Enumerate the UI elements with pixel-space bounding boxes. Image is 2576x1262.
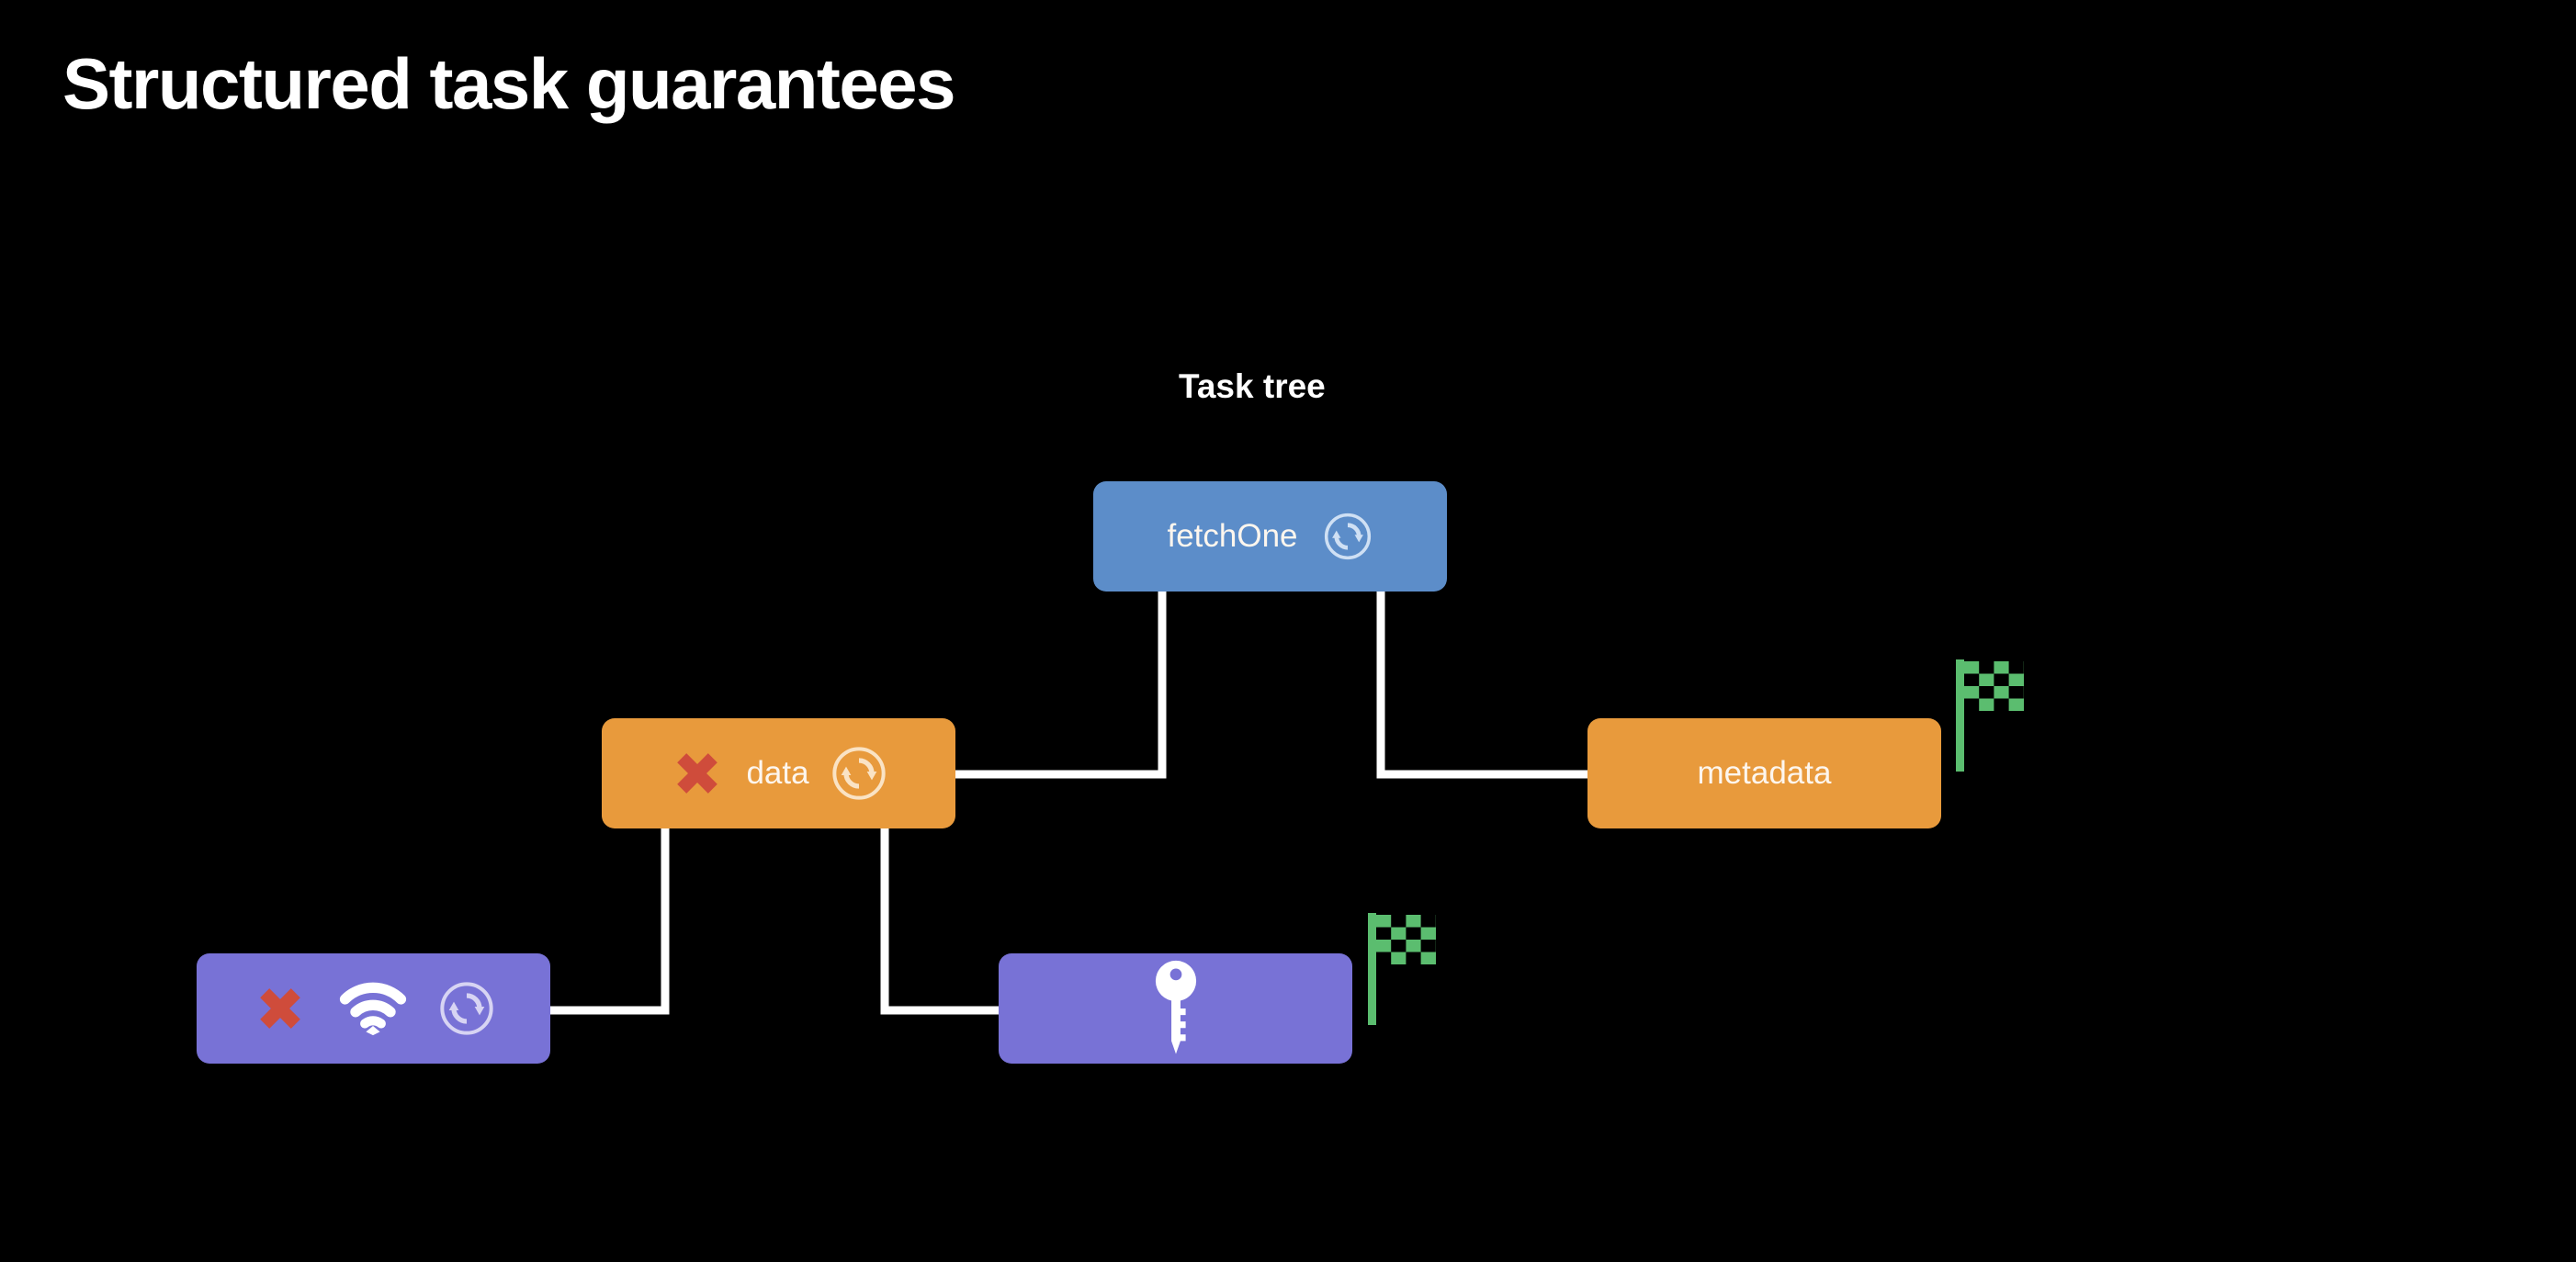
edge-fetchone-metadata xyxy=(1381,592,1587,774)
task-node-fetchone[interactable]: fetchOne xyxy=(1093,481,1447,592)
cancel-x-icon xyxy=(252,980,309,1037)
edge-data-key xyxy=(885,828,999,1010)
task-node-key[interactable] xyxy=(999,953,1352,1064)
task-node-metadata-label: metadata xyxy=(1698,755,1832,792)
checkered-flag-key xyxy=(1368,913,1436,1030)
task-node-data-label: data xyxy=(746,755,808,792)
edge-data-wifi xyxy=(550,828,665,1010)
wifi-icon xyxy=(338,980,408,1037)
key-icon xyxy=(1155,960,1197,1057)
refresh-icon xyxy=(830,744,888,803)
task-node-data[interactable]: data xyxy=(602,718,955,828)
refresh-icon xyxy=(1322,511,1373,562)
checkered-flag-metadata xyxy=(1956,659,2024,776)
task-node-wifi[interactable] xyxy=(197,953,550,1064)
edge-fetchone-data xyxy=(955,592,1162,774)
cancel-x-icon xyxy=(669,745,726,802)
task-node-metadata[interactable]: metadata xyxy=(1587,718,1941,828)
refresh-icon xyxy=(437,979,496,1038)
connector-layer xyxy=(0,0,2576,1262)
task-node-fetchone-label: fetchOne xyxy=(1167,518,1297,555)
